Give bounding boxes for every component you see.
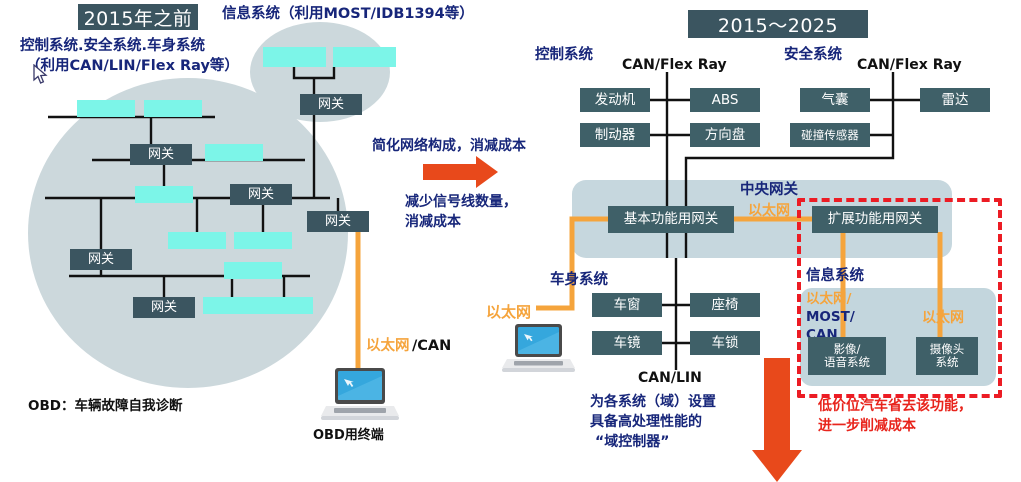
control-box-abs: ABS: [690, 88, 760, 112]
bus-label-can-lin: CAN/LIN: [638, 370, 702, 387]
body-box-mirror: 车镜: [592, 331, 662, 355]
central-ethernet-label: 以太网: [748, 203, 790, 220]
gateway-box: 网关: [300, 94, 362, 115]
info-bus-most-label: MOST/: [806, 309, 855, 325]
node-box: [203, 297, 261, 314]
safety-box-radar: 雷达: [920, 88, 990, 112]
gateway-box: 网关: [130, 144, 192, 165]
right-ethernet-laptop-label: 以太网: [486, 303, 531, 321]
middle-arrow-text-bottom-2: 消减成本: [405, 214, 461, 231]
safety-box-airbag: 气囊: [800, 88, 870, 112]
low-cost-note-2: 进一步削减成本: [818, 418, 916, 435]
body-box-lock: 车锁: [690, 331, 760, 355]
control-box-engine: 发动机: [580, 88, 650, 112]
obd-laptop-caption: OBD用终端: [313, 424, 384, 443]
node-box: [77, 100, 135, 117]
left-link-label-ethernet: 以太网: [366, 338, 410, 356]
left-title-chip: 2015年之前: [78, 4, 198, 30]
info-bus-ethernet-right-label: 以太网: [922, 310, 964, 327]
body-system-label: 车身系统: [550, 272, 608, 290]
mouse-cursor-icon: [33, 64, 49, 86]
node-box: [144, 100, 202, 117]
node-box: [263, 47, 326, 67]
bus-label-can-flexray-left: CAN/Flex Ray: [622, 57, 727, 74]
control-system-label: 控制系统: [535, 47, 593, 65]
left-title-text: 2015年之前: [84, 4, 193, 31]
control-box-brake: 制动器: [580, 123, 650, 147]
node-box: [333, 47, 396, 67]
gateway-box: 网关: [307, 211, 369, 232]
domain-controller-note-2: 具备高处理性能的: [590, 414, 702, 431]
bus-label-can-flexray-right: CAN/Flex Ray: [857, 57, 962, 74]
gateway-box: 网关: [230, 184, 292, 205]
control-box-steering: 方向盘: [690, 123, 760, 147]
obd-laptop-icon: [318, 366, 402, 422]
node-box: [255, 297, 313, 314]
left-control-subtitle-line2: （利用CAN/LIN/Flex Ray等）: [26, 58, 239, 76]
node-box: [224, 262, 282, 279]
left-control-subtitle-line1: 控制系统.安全系统.车身系统: [20, 38, 205, 56]
body-box-window: 车窗: [592, 293, 662, 317]
body-box-seat: 座椅: [690, 293, 760, 317]
info-bus-ethernet-label: 以太网/: [806, 291, 851, 307]
safety-system-label: 安全系统: [784, 47, 842, 65]
domain-controller-note-3: “域控制器”: [595, 434, 669, 451]
low-cost-note-1: 低价位汽车省去该功能，: [818, 398, 972, 415]
middle-arrow-text-bottom-1: 减少信号线数量，: [405, 194, 517, 211]
info-box-camera-system: 摄像头 系统: [916, 337, 978, 375]
info-system-label: 信息系统: [806, 268, 864, 286]
middle-arrow-text-top: 简化网络构成，消减成本: [372, 138, 526, 155]
left-info-subtitle: 信息系统（利用MOST/IDB1394等）: [222, 6, 474, 24]
right-title-text: 2015～2025: [718, 11, 838, 38]
gateway-box: 网关: [70, 249, 132, 270]
obd-note: OBD：车辆故障自我诊断: [28, 398, 182, 414]
diagram-canvas: 2015年之前 信息系统（利用MOST/IDB1394等） 控制系统.安全系统.…: [0, 0, 1021, 482]
central-gateway-label: 中央网关: [740, 182, 798, 200]
right-title-chip: 2015～2025: [688, 10, 868, 38]
ethernet-laptop-icon: [500, 322, 578, 374]
gateway-box: 网关: [133, 297, 195, 318]
left-link-label-can: /CAN: [412, 338, 451, 356]
node-box: [234, 232, 292, 249]
node-box: [205, 144, 263, 161]
safety-box-crash-sensor: 碰撞传感器: [790, 123, 870, 147]
node-box: [135, 186, 193, 203]
node-box: [168, 232, 226, 249]
basic-function-gateway-box: 基本功能用网关: [608, 206, 734, 233]
domain-controller-note-1: 为各系统（域）设置: [590, 394, 716, 411]
info-box-av-system: 影像/ 语音系统: [808, 337, 886, 375]
